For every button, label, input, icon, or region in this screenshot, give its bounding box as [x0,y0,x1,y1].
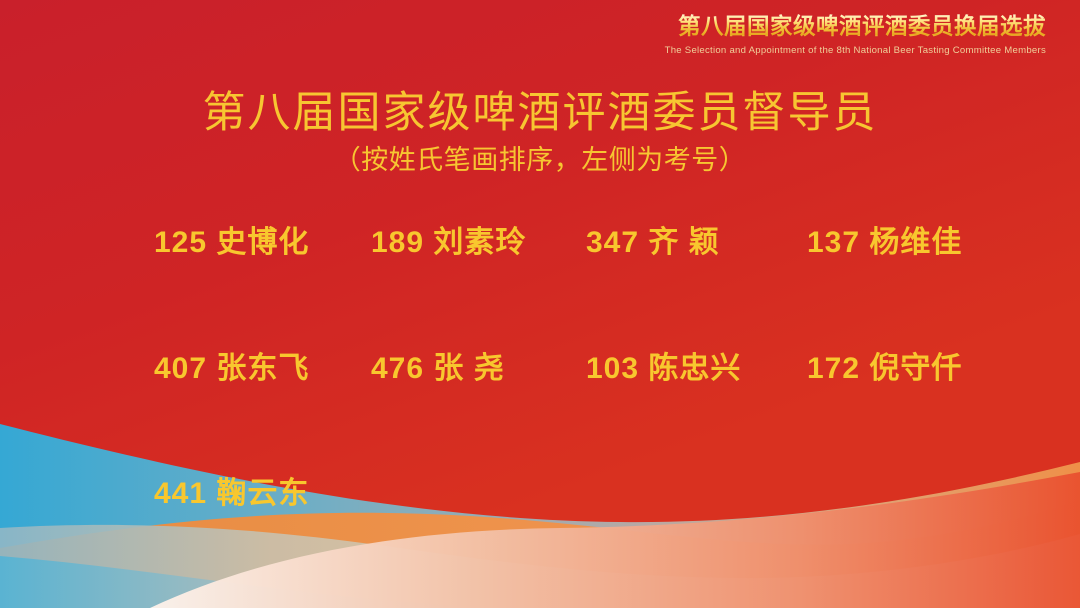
wave-lightblue-sliver [0,556,520,608]
page-subtitle: （按姓氏笔画排序，左侧为考号） [0,144,1080,176]
supervisor-name-grid: 125 史博化 189 刘素玲 347 齐 颖 137 杨维佳 407 张东飞 … [132,224,976,513]
supervisor-entry: 125 史博化 [132,224,343,262]
header-logo: 第八届国家级啤酒评酒委员换届选拔 The Selection and Appoi… [665,14,1046,56]
logo-english-subtitle: The Selection and Appointment of the 8th… [665,45,1046,56]
supervisor-entry: 172 倪守仟 [765,350,976,388]
wave-cream-band [0,525,1080,608]
supervisor-entry: 137 杨维佳 [765,224,976,262]
title-block: 第八届国家级啤酒评酒委员督导员 （按姓氏笔画排序，左侧为考号） [0,88,1080,176]
supervisor-entry: 103 陈忠兴 [554,350,765,388]
slide-canvas: 第八届国家级啤酒评酒委员换届选拔 The Selection and Appoi… [0,0,1080,608]
page-title: 第八届国家级啤酒评酒委员督导员 [0,88,1080,139]
supervisor-entry: 441 鞠云东 [132,475,343,513]
supervisor-entry: 476 张 尧 [343,350,554,388]
supervisor-entry: 407 张东飞 [132,350,343,388]
wave-orange-ridge [0,500,1080,608]
supervisor-entry: 189 刘素玲 [343,224,554,262]
supervisor-entry: 347 齐 颖 [554,224,765,262]
logo-chinese-title: 第八届国家级啤酒评酒委员换届选拔 [665,14,1046,40]
